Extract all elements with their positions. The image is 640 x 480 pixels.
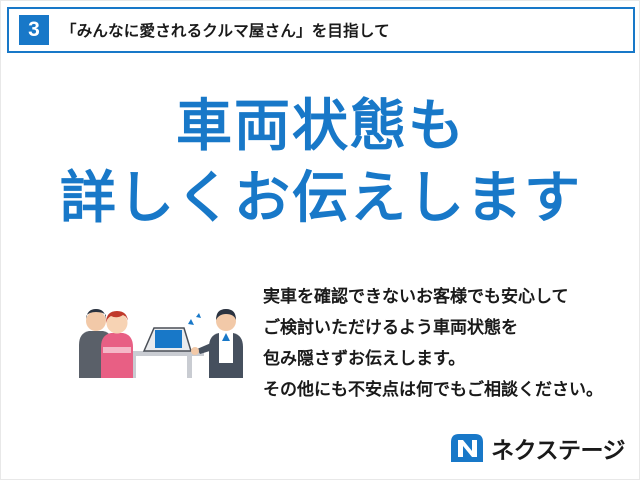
headline-line-2: 詳しくお伝えします bbox=[1, 165, 640, 231]
body-copy-line-4: その他にも不安点は何でもご相談ください。 bbox=[263, 374, 613, 405]
nextage-n-logo-icon bbox=[449, 432, 485, 464]
body-copy: 実車を確認できないお客様でも安心して ご検討いただけるよう車両状態を 包み隠さず… bbox=[263, 281, 613, 405]
brand-name: ネクステージ bbox=[491, 431, 625, 465]
promotional-banner: 3 「みんなに愛されるクルマ屋さん」を目指して 車両状態も 詳しくお伝えします bbox=[0, 0, 640, 480]
step-number-badge: 3 bbox=[19, 15, 49, 45]
header-title: 「みんなに愛されるクルマ屋さん」を目指して bbox=[61, 19, 390, 41]
staff-and-customers-illustration bbox=[59, 273, 259, 388]
body-copy-line-3: 包み隠さずお伝えします。 bbox=[263, 343, 613, 374]
body-copy-line-1: 実車を確認できないお客様でも安心して bbox=[263, 281, 613, 312]
brand-footer: ネクステージ bbox=[449, 431, 625, 465]
headline-line-1: 車両状態も bbox=[1, 93, 640, 159]
page-title: 車両状態も 詳しくお伝えします bbox=[1, 93, 640, 231]
header-bar: 3 「みんなに愛されるクルマ屋さん」を目指して bbox=[7, 7, 635, 53]
body-copy-line-2: ご検討いただけるよう車両状態を bbox=[263, 312, 613, 343]
